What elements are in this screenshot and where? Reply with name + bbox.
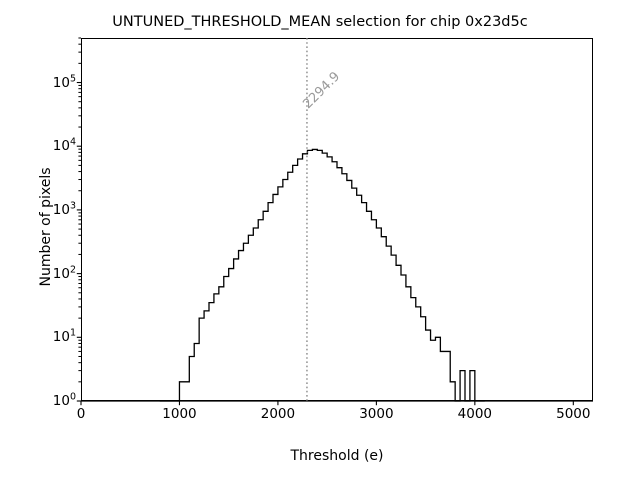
x-tick-label: 3000 [359,406,393,422]
histogram-step-line [160,149,485,401]
x-tick-label: 1000 [162,406,196,422]
matplotlib-figure: UNTUNED_THRESHOLD_MEAN selection for chi… [0,0,640,480]
y-axis-label: Number of pixels [38,77,54,377]
x-tick-label: 5000 [556,406,590,422]
histogram-plot [0,0,640,480]
x-tick-label: 0 [77,406,86,422]
y-tick-label: 100 [28,393,76,409]
x-tick-label: 2000 [261,406,295,422]
x-axis-label: Threshold (e) [81,448,593,464]
x-tick-label: 4000 [458,406,492,422]
